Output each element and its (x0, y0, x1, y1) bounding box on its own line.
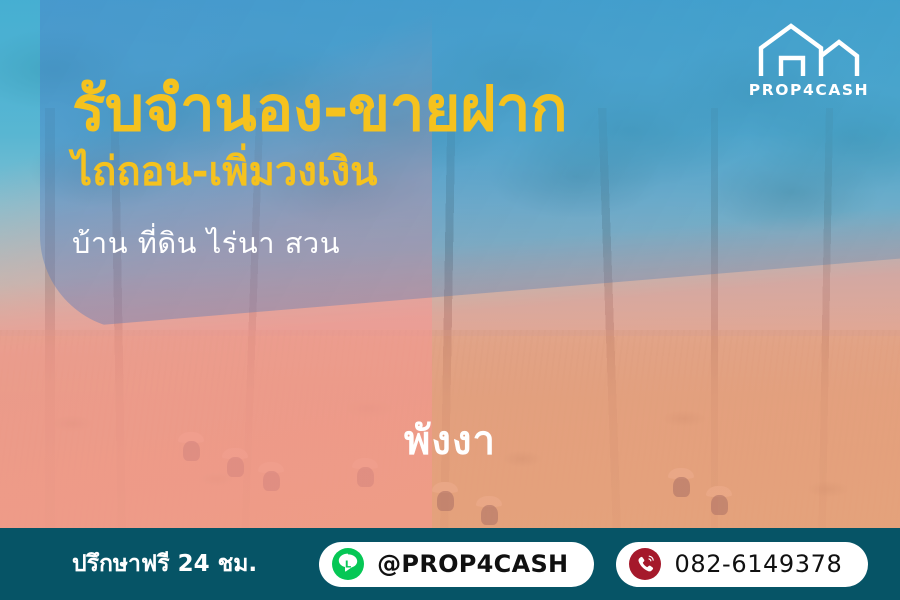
headline-secondary: ไถ่ถอน-เพิ่มวงเงิน (72, 150, 772, 194)
line-contact-button[interactable]: L @PROP4CASH (319, 542, 594, 587)
phone-contact-button[interactable]: 082-6149378 (616, 542, 868, 587)
line-id-text: @PROP4CASH (377, 550, 568, 578)
hero-copy: รับจำนอง-ขายฝาก ไถ่ถอน-เพิ่มวงเงิน บ้าน … (72, 76, 772, 266)
phone-call-icon (628, 547, 662, 581)
promotional-banner: PROP4CASH รับจำนอง-ขายฝาก ไถ่ถอน-เพิ่มวง… (0, 0, 900, 600)
phone-number-text: 082-6149378 (674, 550, 842, 578)
province-label: พังงา (0, 408, 900, 472)
headline-primary: รับจำนอง-ขายฝาก (72, 76, 772, 142)
hero-subline: บ้าน ที่ดิน ไร่นา สวน (72, 220, 772, 266)
contact-bar: ปรึกษาฟรี 24 ชม. L @PROP4CASH 0 (0, 528, 900, 600)
free-consult-text: ปรึกษาฟรี 24 ชม. (72, 546, 257, 582)
svg-text:L: L (345, 560, 352, 571)
line-app-icon: L (331, 547, 365, 581)
house-outline-icon (757, 22, 861, 78)
